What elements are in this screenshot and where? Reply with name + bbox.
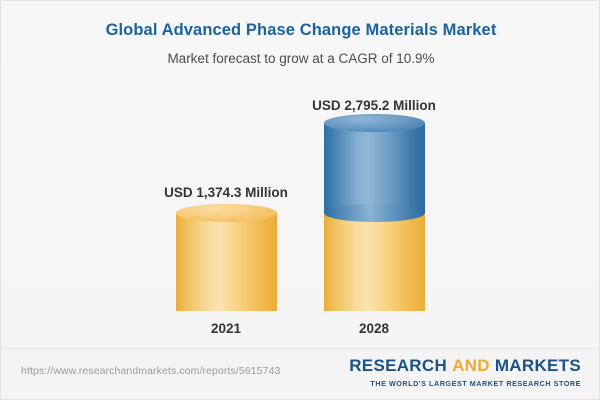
logo-word-markets: MARKETS	[495, 356, 581, 375]
report-url[interactable]: https://www.researchandmarkets.com/repor…	[21, 365, 280, 377]
cylinder-growth-segment-2028	[324, 123, 425, 213]
market-forecast-chart-card: Global Advanced Phase Change Materials M…	[0, 0, 600, 400]
footer: https://www.researchandmarkets.com/repor…	[1, 348, 600, 399]
logo-wordmark: RESEARCH AND MARKETS	[349, 357, 581, 376]
bar-cylinder-2028	[324, 123, 425, 311]
x-axis-label-2021: 2021	[146, 321, 306, 336]
logo-tagline: THE WORLD'S LARGEST MARKET RESEARCH STOR…	[349, 379, 581, 388]
logo-word-and: AND	[452, 356, 490, 375]
cylinder-top-cap-2028	[324, 114, 425, 132]
chart-plot-area: USD 1,374.3 Million USD 2,795.2 Million …	[1, 1, 600, 349]
brand-logo[interactable]: RESEARCH AND MARKETS THE WORLD'S LARGEST…	[349, 357, 581, 388]
value-label-2028: USD 2,795.2 Million	[274, 98, 474, 113]
value-label-2021: USD 1,374.3 Million	[126, 185, 326, 200]
cylinder-body-2021	[176, 213, 277, 311]
cylinder-base-segment-2028	[324, 213, 425, 311]
bar-cylinder-2021	[176, 213, 277, 311]
cylinder-segment-divider-2028	[324, 204, 425, 222]
logo-word-research: RESEARCH	[349, 356, 447, 375]
cylinder-top-cap-2021	[176, 204, 277, 222]
x-axis-label-2028: 2028	[294, 321, 454, 336]
